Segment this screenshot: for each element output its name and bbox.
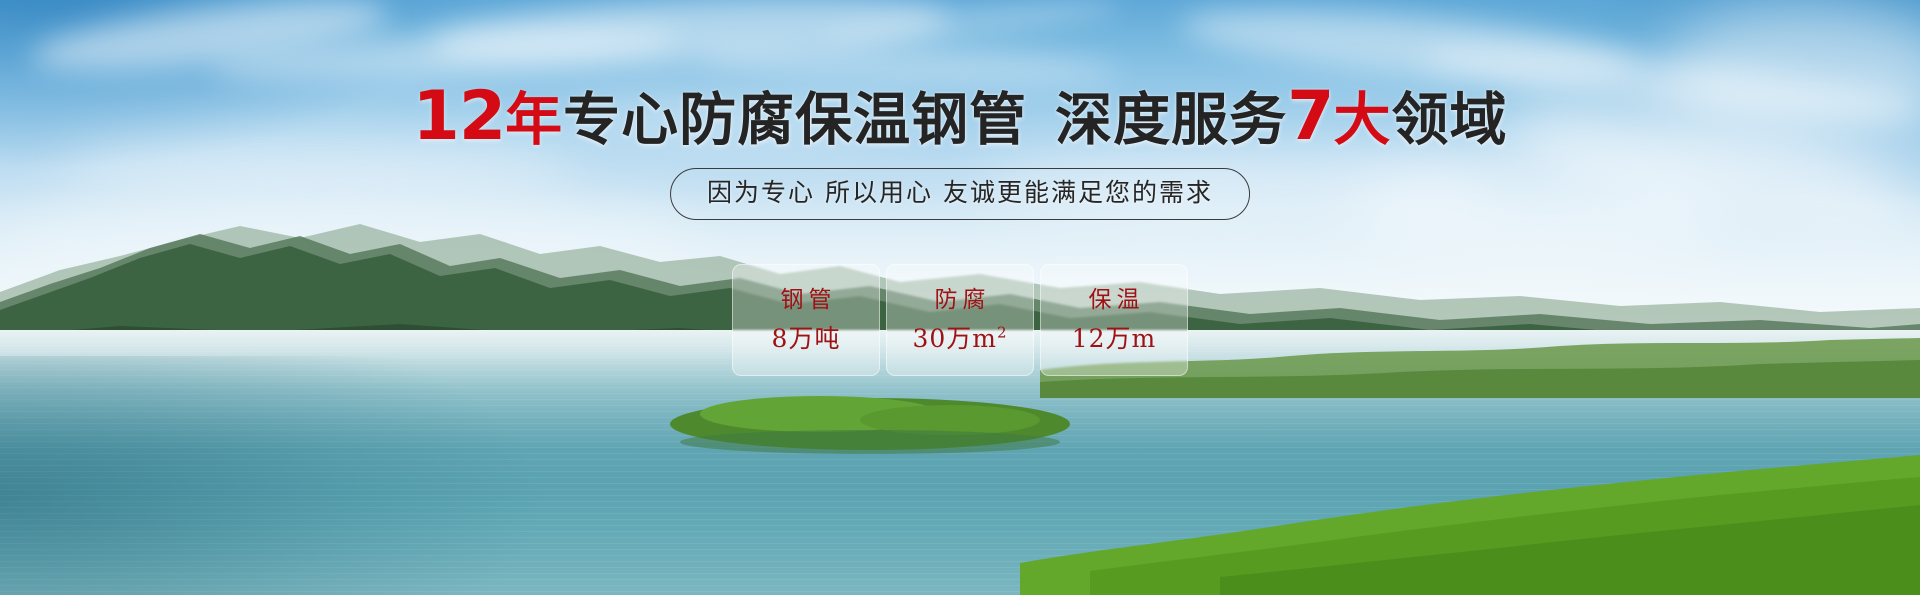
stat-value-text: 30万m <box>912 324 997 353</box>
stat-value: 30万m2 <box>912 325 1007 352</box>
water-shadow-left <box>0 356 620 595</box>
stat-label: 保温 <box>1084 288 1145 313</box>
headline-years-unit: 年 <box>505 87 563 153</box>
stat-value-text: 8万吨 <box>772 324 841 353</box>
stat-label: 钢管 <box>776 288 837 313</box>
headline-years-number: 12 <box>413 77 506 156</box>
headline: 12年专心防腐保温钢管深度服务7大领域 <box>0 86 1920 151</box>
stat-value-sup: 2 <box>997 324 1008 342</box>
stat-value-text: 12万m <box>1072 324 1157 353</box>
stat-card-anticorrosion[interactable]: 防腐 30万m2 <box>886 264 1034 376</box>
headline-fields-number: 7 <box>1287 77 1333 156</box>
stat-card-insulation[interactable]: 保温 12万m <box>1040 264 1188 376</box>
stat-value: 8万吨 <box>772 325 841 352</box>
stats-row: 钢管 8万吨 防腐 30万m2 保温 12万m <box>732 264 1188 376</box>
stat-card-steel-pipe[interactable]: 钢管 8万吨 <box>732 264 880 376</box>
stat-value: 12万m <box>1072 325 1157 352</box>
headline-second-suffix: 领域 <box>1391 87 1507 153</box>
subtitle-pill: 因为专心 所以用心 友诚更能满足您的需求 <box>670 168 1250 220</box>
hero-banner: 12年专心防腐保温钢管深度服务7大领域 因为专心 所以用心 友诚更能满足您的需求… <box>0 0 1920 595</box>
stat-label: 防腐 <box>930 288 991 313</box>
headline-fields-word: 大 <box>1333 87 1391 153</box>
headline-second-prefix: 深度服务 <box>1055 87 1287 153</box>
headline-main-text: 专心防腐保温钢管 <box>563 87 1027 153</box>
